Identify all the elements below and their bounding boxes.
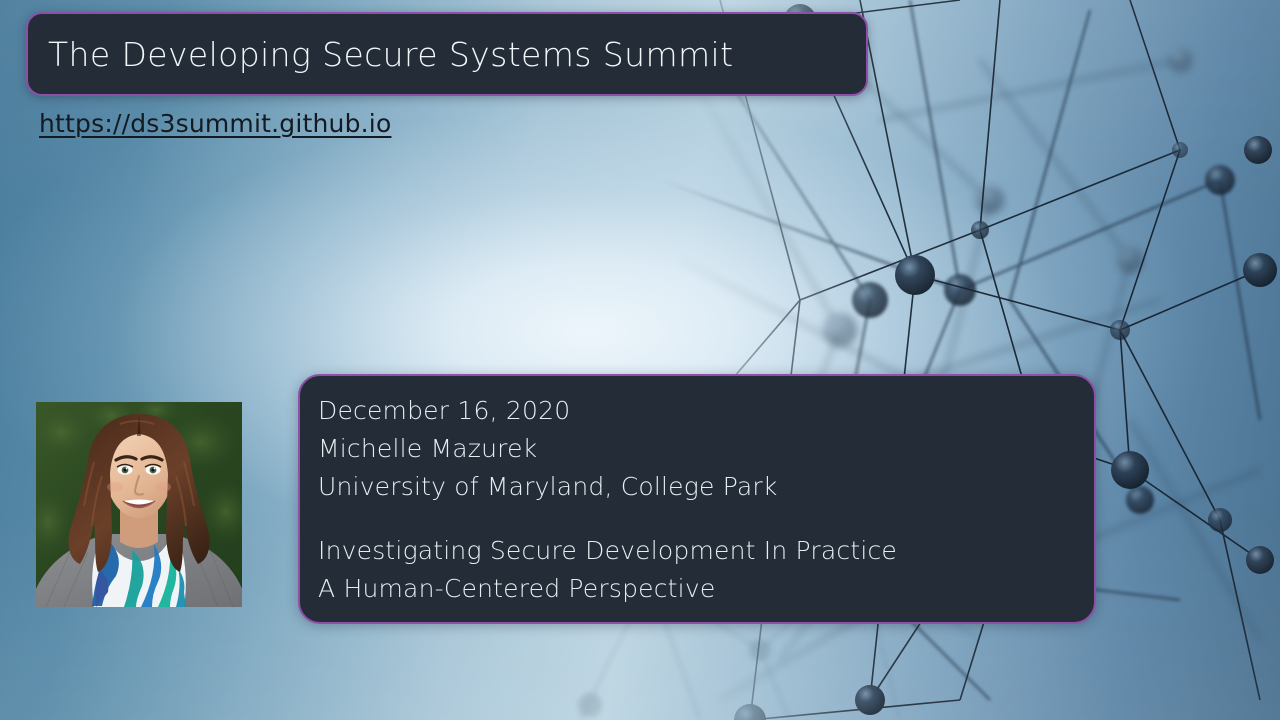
page-title: The Developing Secure Systems Summit [28, 35, 733, 74]
talk-date: December 16, 2020 [318, 392, 1094, 430]
slide-info-box: December 16, 2020 Michelle Mazurek Unive… [298, 374, 1096, 624]
summit-website-link[interactable]: https://ds3summit.github.io [39, 109, 391, 138]
slide-title-box: The Developing Secure Systems Summit [26, 12, 868, 96]
presentation-slide: The Developing Secure Systems Summit htt… [0, 0, 1280, 720]
speaker-affiliation: University of Maryland, College Park [318, 468, 1094, 506]
speaker-name: Michelle Mazurek [318, 430, 1094, 468]
speaker-photo [36, 402, 242, 607]
talk-title: Investigating Secure Development In Prac… [318, 532, 1094, 570]
talk-subtitle: A Human-Centered Perspective [318, 570, 1094, 608]
speaker-portrait-image [36, 402, 242, 607]
info-spacer [318, 506, 1094, 532]
